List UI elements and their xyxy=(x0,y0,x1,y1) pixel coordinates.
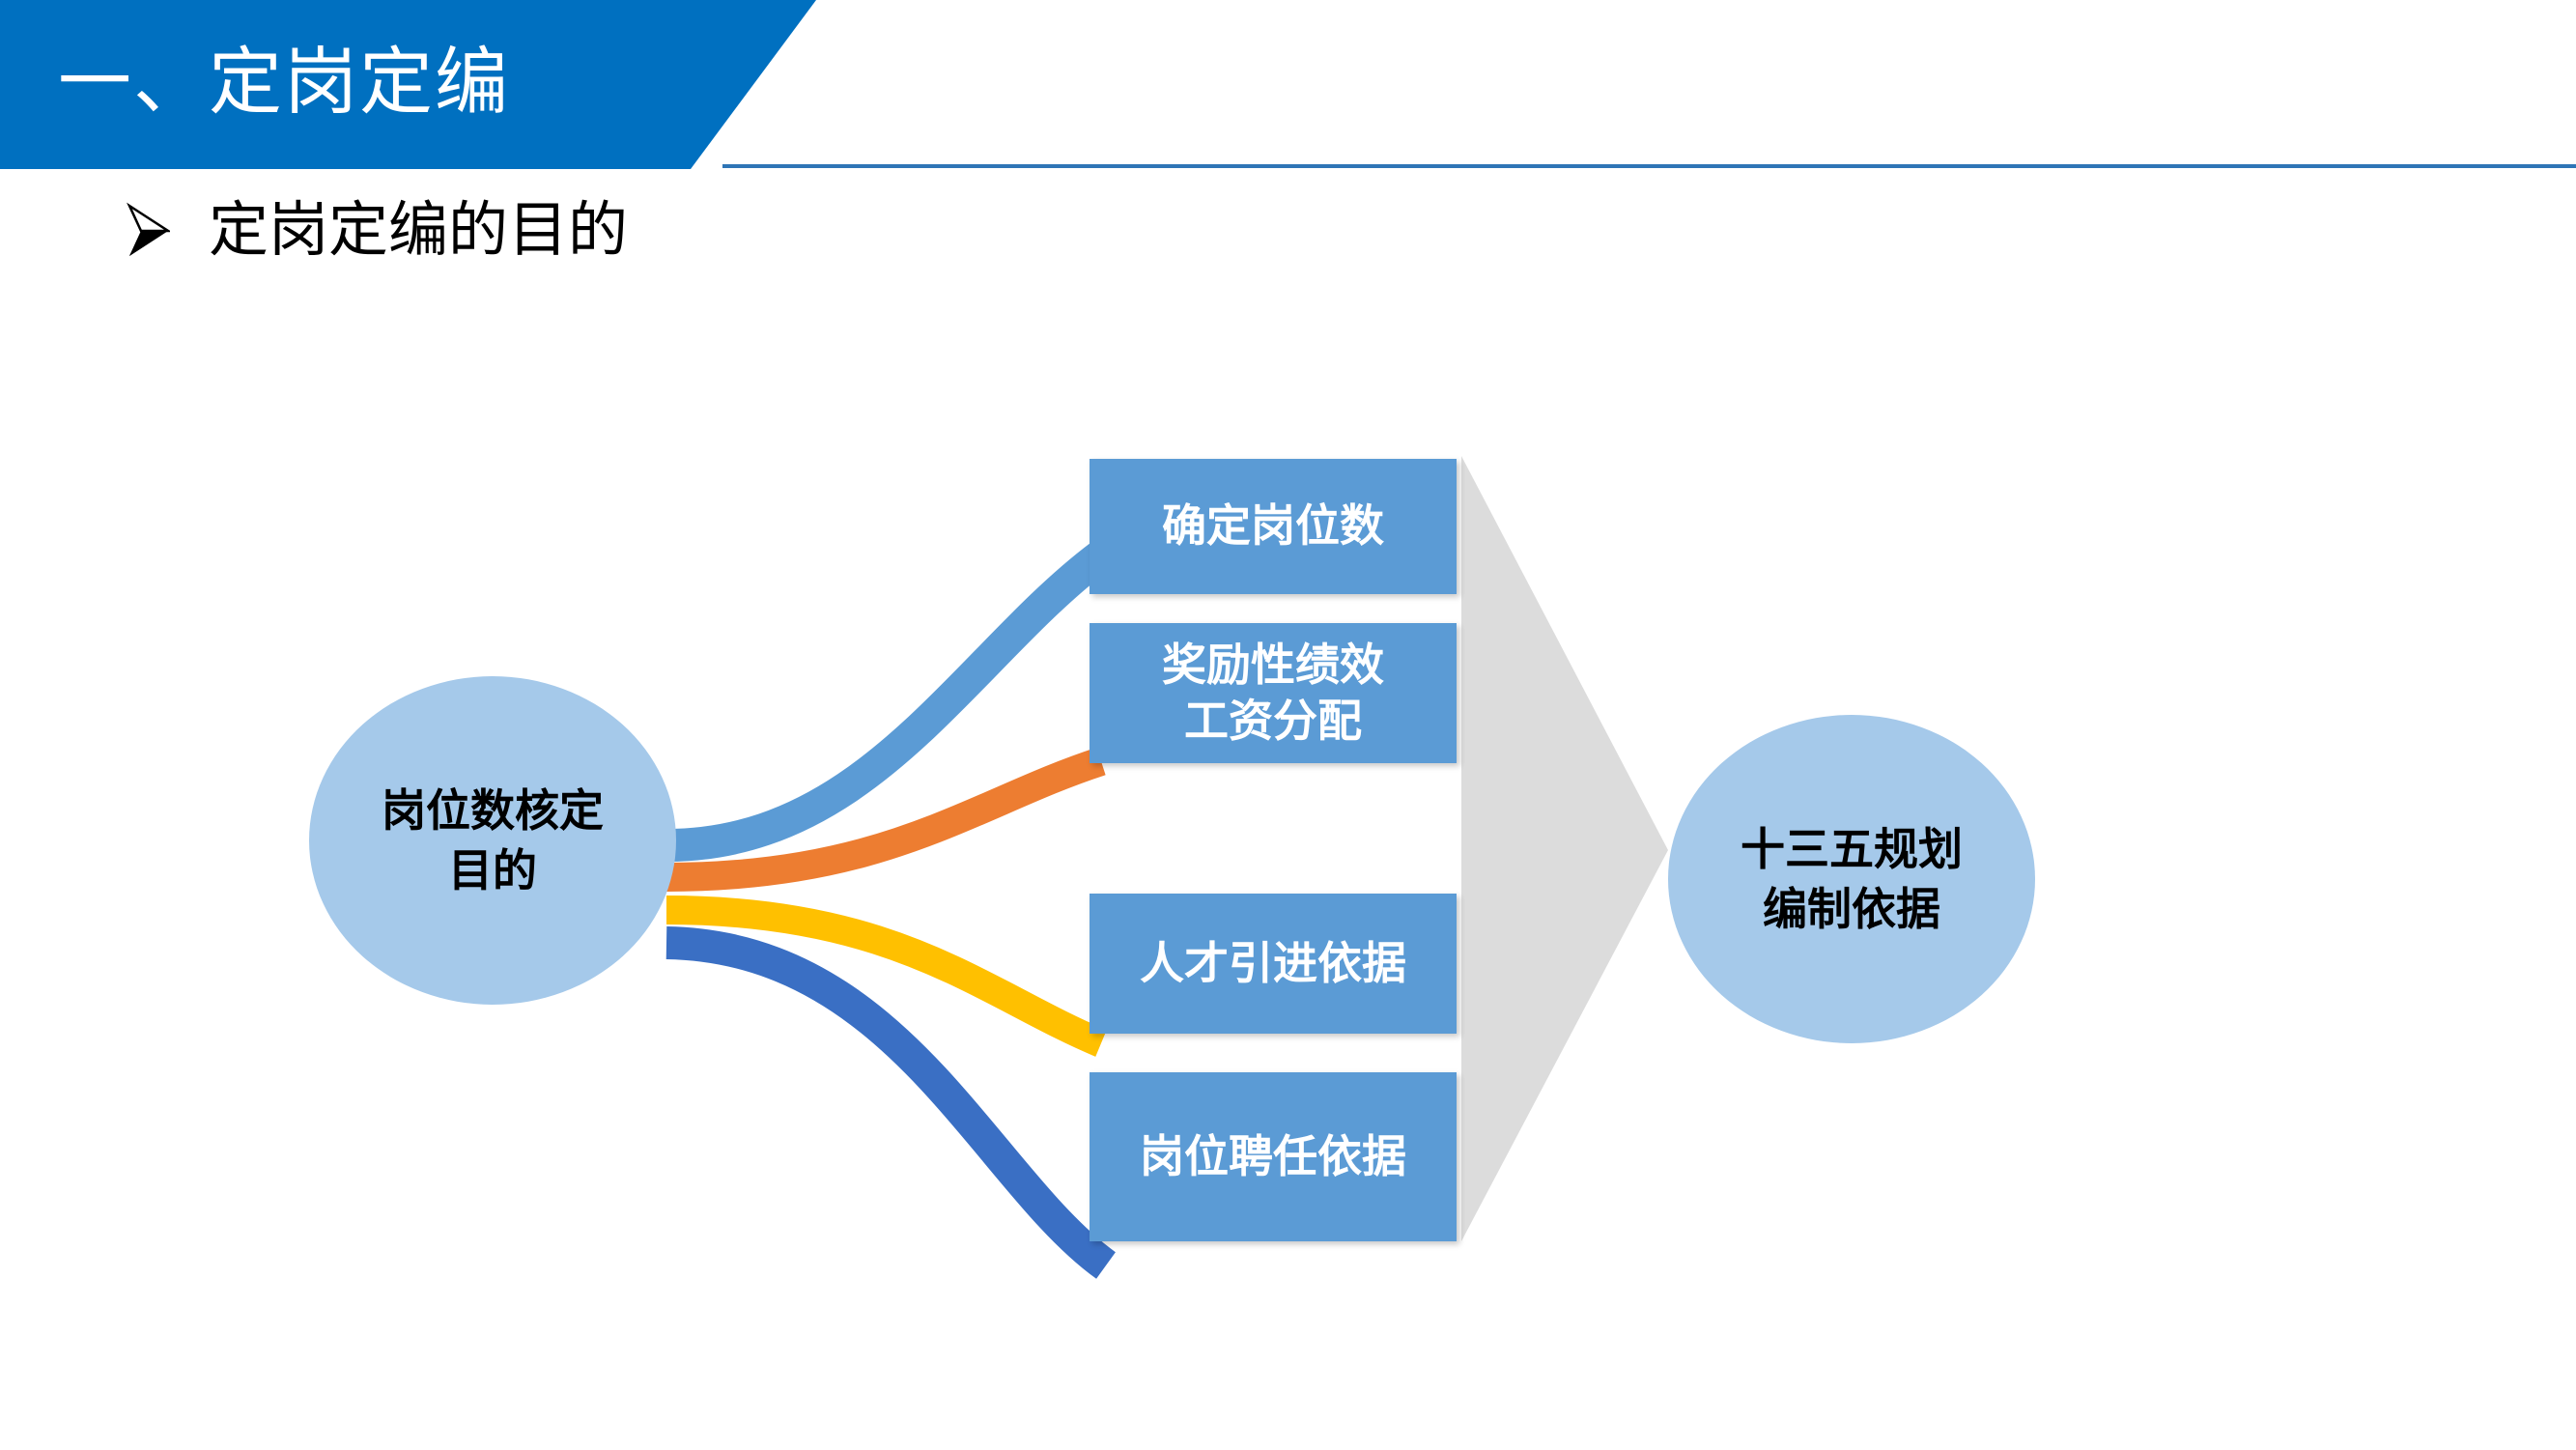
task-box-2[interactable]: 奖励性绩效工资分配 xyxy=(1090,623,1457,763)
slide-header: 一、定岗定编 xyxy=(0,0,2576,179)
source-node-line1: 岗位数核定 xyxy=(382,781,604,840)
header-divider-line xyxy=(722,164,2576,168)
task-box-3[interactable]: 人才引进依据 xyxy=(1090,894,1457,1034)
task-box-4-label: 岗位聘任依据 xyxy=(1140,1129,1406,1185)
target-node: 十三五规划 编制依据 xyxy=(1668,715,2035,1043)
bullet-row: 定岗定编的目的 xyxy=(126,201,628,261)
source-node: 岗位数核定 目的 xyxy=(309,676,676,1005)
process-diagram: 岗位数核定 目的 确定岗位数 奖励性绩效工资分配 人才引进依据 岗位聘任依据 十… xyxy=(0,367,2576,1333)
slide-canvas: 一、定岗定编 定岗定编的目的 岗位数核定 目的 确定岗位数 xyxy=(0,0,2576,1450)
page-title: 一、定岗定编 xyxy=(58,17,927,133)
source-node-line2: 目的 xyxy=(448,840,537,900)
gray-triangle xyxy=(1461,456,1668,1241)
bullet-text: 定岗定编的目的 xyxy=(209,201,628,261)
target-node-line2: 编制依据 xyxy=(1763,879,1940,939)
task-box-3-label: 人才引进依据 xyxy=(1140,936,1406,992)
task-box-4[interactable]: 岗位聘任依据 xyxy=(1090,1072,1457,1241)
connector-ribbon-4 xyxy=(666,943,1106,1265)
target-node-line1: 十三五规划 xyxy=(1741,819,1963,879)
task-box-1-label: 确定岗位数 xyxy=(1162,498,1384,554)
connector-ribbon-1 xyxy=(666,555,1101,845)
task-box-1[interactable]: 确定岗位数 xyxy=(1090,459,1457,594)
arrow-bullet-icon xyxy=(126,202,170,260)
task-box-2-label: 奖励性绩效工资分配 xyxy=(1162,638,1384,749)
